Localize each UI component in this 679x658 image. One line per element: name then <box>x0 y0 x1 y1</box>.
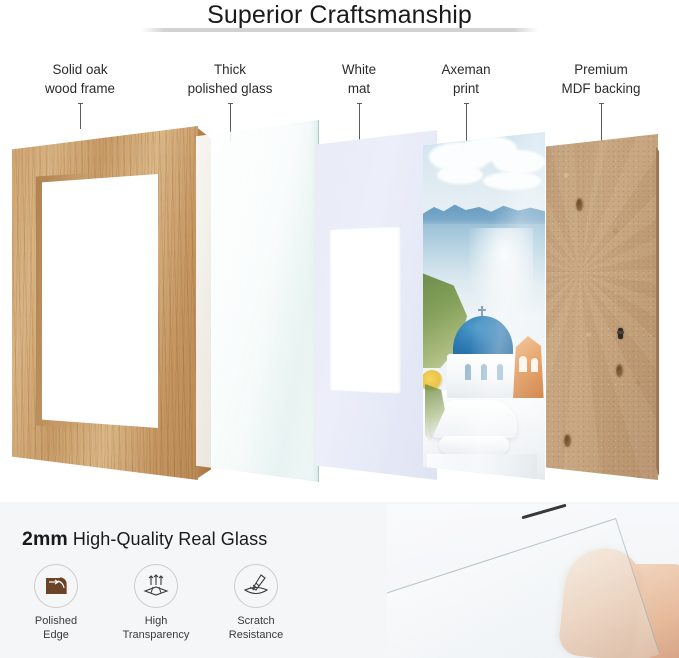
feature-label-line-2: Transparency <box>114 628 198 642</box>
scratch-resistance-icon <box>234 564 278 608</box>
glass-thickness-value: 2mm <box>22 528 68 550</box>
feature-high-transparency: High Transparency <box>114 564 198 642</box>
layer-white-mat <box>315 130 437 480</box>
callout-line-2: polished glass <box>160 79 300 98</box>
print-walkway <box>427 454 537 480</box>
print-bell-tower-arch <box>531 358 538 372</box>
hand-holding-glass-photo <box>387 504 679 658</box>
high-transparency-icon <box>134 564 178 608</box>
print-church-window <box>497 364 503 380</box>
feature-label: Scratch Resistance <box>214 614 298 642</box>
layer-glass-sheet <box>196 120 319 482</box>
header: Superior Craftsmanship <box>0 0 679 44</box>
feature-label-line-1: Polished <box>35 615 77 627</box>
polished-edge-icon <box>34 564 78 608</box>
print-cloud <box>483 172 541 190</box>
mdf-fiber-texture <box>546 134 658 480</box>
print-bell-tower-arch <box>519 356 527 372</box>
feature-list: Polished Edge High Transparency <box>14 564 298 642</box>
callout-line-1: White <box>342 62 376 77</box>
mat-window-cutout <box>329 226 401 394</box>
print-church-window <box>465 364 471 380</box>
exploded-view-diagram <box>0 108 679 498</box>
print-cloud <box>437 166 483 184</box>
callout-line-2: mat <box>304 79 414 98</box>
callout-line-1: Axeman <box>441 62 490 77</box>
callout-premium-mdf-backing: Premium MDF backing <box>531 60 671 98</box>
callout-line-2: wood frame <box>10 79 150 98</box>
print-cloud <box>493 150 545 174</box>
feature-label-line-2: Resistance <box>214 628 298 642</box>
print-church-window <box>481 364 487 380</box>
callout-axeman-print: Axeman print <box>406 60 526 98</box>
mdf-hanger-hole <box>576 198 583 211</box>
callout-line-2: MDF backing <box>531 79 671 98</box>
callout-line-1: Premium <box>574 62 628 77</box>
print-bell-tower <box>511 336 545 398</box>
feature-label-line-1: Scratch <box>237 615 274 627</box>
feature-label: Polished Edge <box>14 614 98 642</box>
mdf-backing-edge <box>656 134 659 480</box>
callout-line-2: print <box>406 79 526 98</box>
callout-white-mat: White mat <box>304 60 414 98</box>
print-white-step <box>439 436 509 454</box>
glass-claim-text: High-Quality Real Glass <box>68 529 267 549</box>
feature-scratch-resistance: Scratch Resistance <box>214 564 298 642</box>
layer-mdf-backing <box>546 134 658 480</box>
feature-label-line-2: Edge <box>14 628 98 642</box>
mdf-turn-button-clip <box>618 328 623 339</box>
glass-reflection-sheen <box>196 120 318 482</box>
callout-line-1: Thick <box>214 62 246 77</box>
layer-axeman-print <box>423 132 545 480</box>
print-sea-shimmer <box>469 228 533 314</box>
feature-label: High Transparency <box>114 614 198 642</box>
oak-frame-opening <box>42 174 158 428</box>
callout-thick-polished-glass: Thick polished glass <box>160 60 300 98</box>
page-title: Superior Craftsmanship <box>0 0 679 30</box>
mdf-hanger-hole <box>616 364 623 377</box>
title-underline-rule <box>141 28 538 32</box>
glass-claim-heading: 2mm High-Quality Real Glass <box>22 528 267 551</box>
glass-feature-panel: 2mm High-Quality Real Glass Polished Edg… <box>0 502 679 658</box>
feature-label-line-1: High <box>145 615 168 627</box>
callout-solid-oak-wood-frame: Solid oak wood frame <box>10 60 150 98</box>
callout-line-1: Solid oak <box>52 62 107 77</box>
mdf-hanger-hole <box>564 434 571 447</box>
layer-oak-frame <box>12 126 198 480</box>
feature-polished-edge: Polished Edge <box>14 564 98 642</box>
